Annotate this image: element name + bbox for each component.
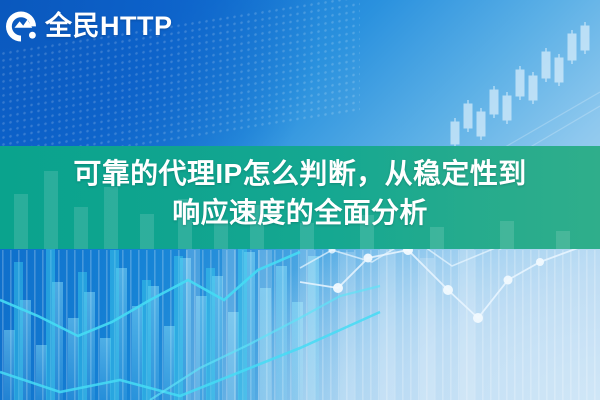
banner-title-line-2: 响应速度的全面分析 — [0, 193, 600, 232]
quanmin-http-logo-icon — [2, 6, 42, 46]
banner-title: 可靠的代理IP怎么判断，从稳定性到 响应速度的全面分析 — [0, 154, 600, 232]
candlestick-chart — [451, 22, 589, 148]
brand-name: 全民HTTP — [45, 6, 173, 46]
site-logo[interactable]: 全民HTTP — [2, 6, 173, 46]
banner-title-line-1: 可靠的代理IP怎么判断，从稳定性到 — [0, 154, 600, 193]
banner-graphic: 可靠的代理IP怎么判断，从稳定性到 响应速度的全面分析 全民HTTP — [0, 0, 600, 400]
